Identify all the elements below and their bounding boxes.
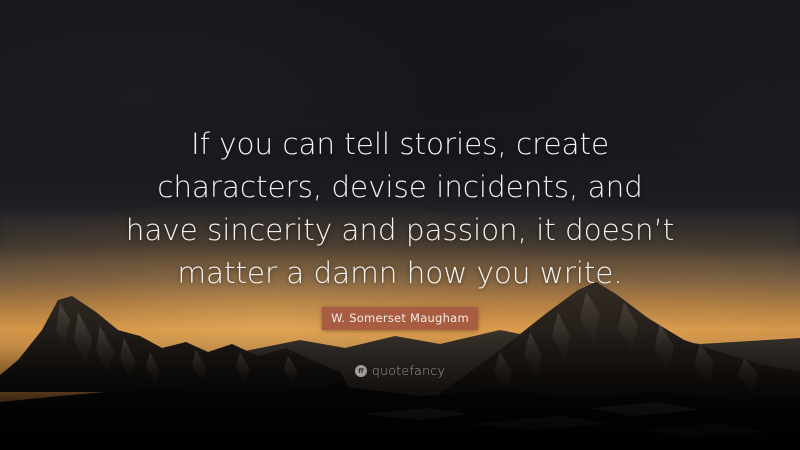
quotefancy-logo-glyph: ff [358, 368, 363, 375]
quote-wallpaper-canvas: If you can tell stories, create characte… [0, 0, 800, 450]
watermark[interactable]: ff quotefancy [0, 365, 800, 378]
attribution-row: W. Somerset Maugham [0, 307, 800, 330]
quote-text: If you can tell stories, create characte… [120, 123, 680, 295]
watermark-brand-label: quotefancy [372, 365, 445, 378]
author-badge: W. Somerset Maugham [322, 307, 478, 330]
quotefancy-logo-icon: ff [355, 365, 367, 377]
content-overlay: If you can tell stories, create characte… [0, 0, 800, 450]
